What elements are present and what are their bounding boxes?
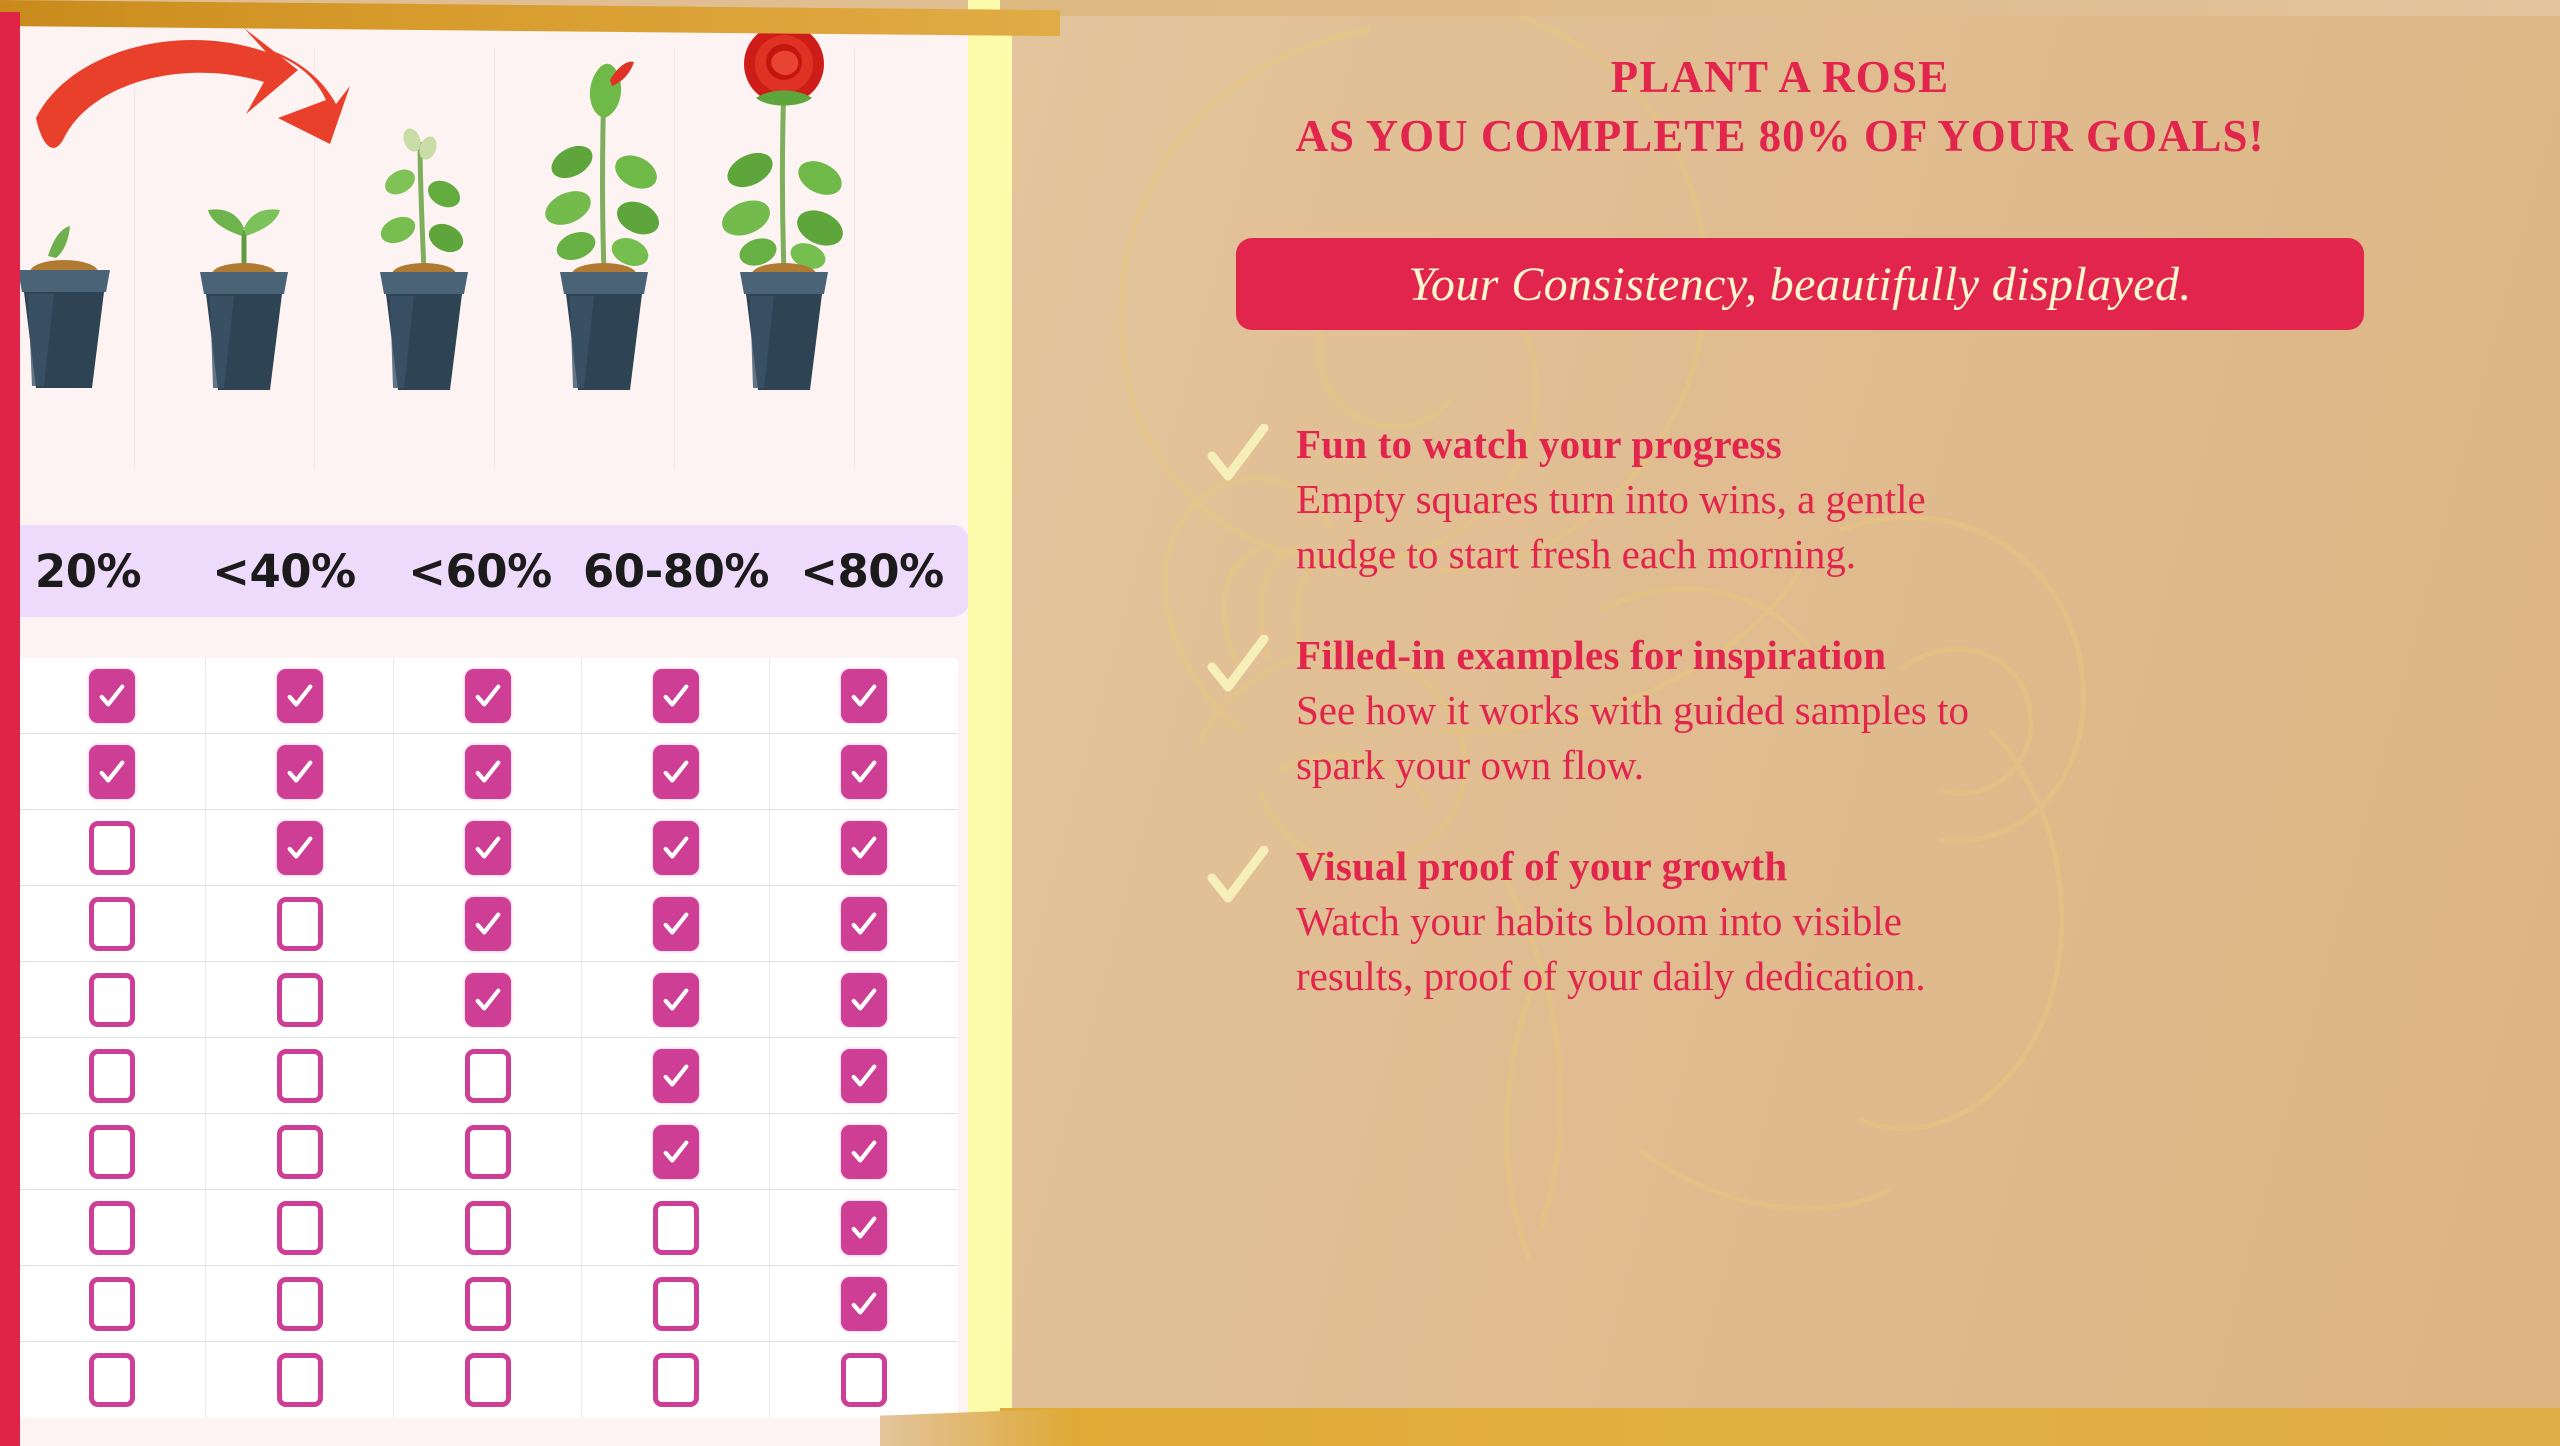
top-gold-bar-right [1000,0,2560,16]
grid-cell [770,886,958,962]
checkbox-empty[interactable] [653,1201,699,1255]
grid-cell [394,1342,582,1418]
grid-cell [18,734,206,810]
grid-cell [770,1114,958,1190]
grid-cell [394,886,582,962]
grid-cell [394,1114,582,1190]
check-mark-icon [661,757,691,787]
checkbox-checked[interactable] [841,745,887,799]
feature-title-1: Filled-in examples for inspiration [1296,631,2530,679]
feature-item-0: Fun to watch your progress Empty squares… [1200,420,2530,581]
checkbox-empty[interactable] [277,1277,323,1331]
checkbox-empty[interactable] [653,1277,699,1331]
checkbox-checked[interactable] [277,669,323,723]
check-mark-icon [849,985,879,1015]
check-mark-icon [849,1289,879,1319]
percent-label-1: <40% [186,545,382,598]
checkbox-empty[interactable] [653,1353,699,1407]
grid-cell [18,1342,206,1418]
grid-cell [394,734,582,810]
check-mark-icon [97,757,127,787]
grid-cell [582,810,770,886]
percent-label-3: 60-80% [578,545,774,598]
checkbox-checked[interactable] [841,669,887,723]
checkbox-empty[interactable] [465,1277,511,1331]
grid-cell [18,1266,206,1342]
percent-label-0: 20% [16,545,186,598]
checkbox-empty[interactable] [465,1125,511,1179]
grid-cell [206,658,394,734]
grid-cell [18,1190,206,1266]
grid-cell [770,734,958,810]
tagline-text: Your Consistency, beautifully displayed. [1408,257,2192,312]
checkbox-empty[interactable] [89,1277,135,1331]
bottom-gold-bar [1000,1408,2560,1446]
check-icon [1206,424,1270,488]
yellow-divider-strip [968,0,1012,1446]
grid-cell [770,1342,958,1418]
feature-body-0: Empty squares turn into wins, a gentle n… [1296,472,2530,581]
grid-cell [582,1342,770,1418]
grid-cell [206,1114,394,1190]
page-title: PLANT A ROSE AS YOU COMPLETE 80% OF YOUR… [1000,48,2560,167]
checkbox-empty[interactable] [277,1125,323,1179]
feature-title-0: Fun to watch your progress [1296,420,2530,468]
grid-cell [582,1114,770,1190]
grid-cell [18,962,206,1038]
checkbox-empty[interactable] [89,1049,135,1103]
habit-tracker-preview: 20% <40% <60% 60-80% <80% [16,20,978,1446]
check-mark-icon [473,681,503,711]
check-mark-icon [661,1061,691,1091]
grid-cell [206,734,394,810]
check-mark-icon [661,909,691,939]
poster-canvas: 20% <40% <60% 60-80% <80% PLANT A ROSE A… [0,0,2560,1446]
feature-body-2: Watch your habits bloom into visible res… [1296,894,2530,1003]
bottom-gold-wedge [880,1408,1080,1446]
check-mark-icon [285,757,315,787]
checkbox-checked[interactable] [841,1125,887,1179]
checkbox-checked[interactable] [277,745,323,799]
check-mark-icon [97,681,127,711]
feature-item-1: Filled-in examples for inspiration See h… [1200,631,2530,792]
checkbox-empty[interactable] [89,897,135,951]
checkbox-empty[interactable] [465,1201,511,1255]
checkbox-checked[interactable] [841,1049,887,1103]
checkbox-checked[interactable] [465,745,511,799]
left-crimson-edge [0,12,20,1446]
grid-cell [770,962,958,1038]
grid-cell [582,734,770,810]
grid-cell [206,810,394,886]
check-mark-icon [661,985,691,1015]
check-mark-icon [285,681,315,711]
checkbox-empty[interactable] [277,1049,323,1103]
plant-stage-blooming-rose [694,22,874,482]
checkbox-checked[interactable] [653,745,699,799]
check-mark-icon [661,1137,691,1167]
checkbox-checked[interactable] [465,669,511,723]
checkbox-checked[interactable] [89,669,135,723]
grid-cell [394,1190,582,1266]
check-mark-icon [661,681,691,711]
plant-stage-budding-rose [514,22,694,482]
grid-cell [582,658,770,734]
check-mark-icon [473,985,503,1015]
check-mark-icon [473,833,503,863]
grid-cell [206,962,394,1038]
grid-cell [770,1038,958,1114]
grid-cell [770,1190,958,1266]
checkbox-checked[interactable] [465,973,511,1027]
checkbox-empty[interactable] [277,897,323,951]
checkbox-checked[interactable] [653,669,699,723]
check-mark-icon [849,681,879,711]
grid-cell [582,962,770,1038]
checkbox-empty[interactable] [89,1201,135,1255]
checkbox-checked[interactable] [465,897,511,951]
checkbox-checked[interactable] [841,1277,887,1331]
checkbox-empty[interactable] [277,1353,323,1407]
checkbox-checked[interactable] [653,973,699,1027]
headline-line-2: AS YOU COMPLETE 80% OF YOUR GOALS! [1000,107,2560,166]
checkbox-empty[interactable] [465,1049,511,1103]
checkbox-empty[interactable] [89,973,135,1027]
checkbox-empty[interactable] [841,1353,887,1407]
check-mark-icon [849,757,879,787]
grid-cell [394,1266,582,1342]
habit-checkbox-grid [18,658,958,1418]
grid-cell [394,810,582,886]
grid-cell [18,886,206,962]
checkbox-checked[interactable] [89,745,135,799]
check-mark-icon [473,909,503,939]
checkbox-checked[interactable] [465,821,511,875]
grid-cell [582,886,770,962]
check-icon [1206,846,1270,910]
grid-cell [206,1342,394,1418]
feature-body-1: See how it works with guided samples to … [1296,683,2530,792]
checkbox-checked[interactable] [841,973,887,1027]
check-mark-icon [473,757,503,787]
grid-cell [206,1266,394,1342]
grid-cell [394,1038,582,1114]
checkbox-empty[interactable] [89,1353,135,1407]
checkbox-checked[interactable] [841,821,887,875]
grid-cell [18,658,206,734]
check-mark-icon [849,909,879,939]
headline-line-1: PLANT A ROSE [1000,48,2560,107]
plant-growth-row [16,20,978,490]
grid-cell [394,658,582,734]
percent-label-2: <60% [382,545,578,598]
grid-cell [18,810,206,886]
check-mark-icon [849,1213,879,1243]
check-mark-icon [849,833,879,863]
feature-title-2: Visual proof of your growth [1296,842,2530,890]
checkbox-checked[interactable] [653,1125,699,1179]
grid-cell [206,1190,394,1266]
grid-cell [770,810,958,886]
tagline-banner: Your Consistency, beautifully displayed. [1236,238,2364,330]
checkbox-empty[interactable] [465,1353,511,1407]
checkbox-checked[interactable] [653,897,699,951]
grid-cell [582,1190,770,1266]
checkbox-empty[interactable] [89,821,135,875]
checkbox-empty[interactable] [277,1201,323,1255]
curved-arrow-right-icon [30,26,460,206]
grid-cell [18,1114,206,1190]
grid-cell [18,1038,206,1114]
checkbox-checked[interactable] [277,821,323,875]
grid-cell [206,1038,394,1114]
percent-label-4: <80% [774,545,970,598]
feature-item-2: Visual proof of your growth Watch your h… [1200,842,2530,1003]
checkbox-empty[interactable] [89,1125,135,1179]
checkbox-checked[interactable] [653,1049,699,1103]
check-mark-icon [849,1137,879,1167]
right-content: PLANT A ROSE AS YOU COMPLETE 80% OF YOUR… [1000,0,2560,1446]
check-icon [1206,635,1270,699]
checkbox-checked[interactable] [653,821,699,875]
grid-cell [582,1266,770,1342]
check-mark-icon [849,1061,879,1091]
check-mark-icon [285,833,315,863]
feature-list: Fun to watch your progress Empty squares… [1200,420,2530,1053]
grid-cell [582,1038,770,1114]
grid-cell [770,658,958,734]
check-mark-icon [661,833,691,863]
grid-cell [770,1266,958,1342]
checkbox-checked[interactable] [841,1201,887,1255]
grid-cell [394,962,582,1038]
checkbox-empty[interactable] [277,973,323,1027]
grid-cell [206,886,394,962]
percent-threshold-header: 20% <40% <60% 60-80% <80% [16,525,970,617]
checkbox-checked[interactable] [841,897,887,951]
